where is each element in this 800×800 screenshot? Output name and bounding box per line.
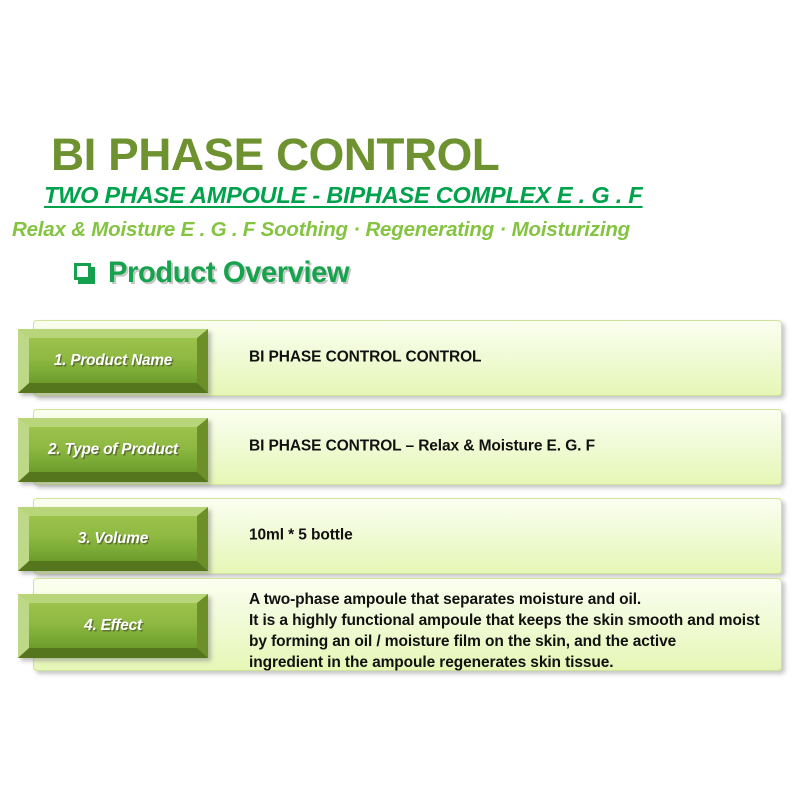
spec-row-label-chip: 1. Product Name	[18, 329, 208, 393]
spec-row: 10ml * 5 bottle 3. Volume	[18, 498, 782, 574]
spec-row: A two-phase ampoule that separates moist…	[18, 578, 782, 671]
page-title: BI PHASE CONTROL	[0, 132, 800, 177]
tagline: Relax & Moisture E . G . F Soothing · Re…	[0, 218, 800, 243]
subtitle: TWO PHASE AMPOULE - BIPHASE COMPLEX E . …	[0, 181, 800, 210]
header-block: BI PHASE CONTROL TWO PHASE AMPOULE - BIP…	[0, 132, 800, 243]
spec-row-label: 4. Effect	[32, 617, 193, 635]
spec-row-value-line: It is a highly functional ampoule that k…	[249, 611, 769, 632]
spec-row-value-line: by forming an oil / moisture film on the…	[249, 632, 769, 653]
spec-row-value: BI PHASE CONTROL – Relax & Moisture E. G…	[249, 437, 769, 458]
hollow-square-bullet-icon	[74, 263, 95, 284]
spec-row: BI PHASE CONTROL CONTROL 1. Product Name	[18, 320, 782, 396]
spec-row-value-line: A two-phase ampoule that separates moist…	[249, 590, 769, 611]
spec-row-value-line: ingredient in the ampoule regenerates sk…	[249, 653, 769, 674]
spec-row-label-chip: 2. Type of Product	[18, 418, 208, 482]
spec-row-label: 1. Product Name	[32, 352, 193, 370]
spec-row-label-chip: 4. Effect	[18, 594, 208, 658]
spec-row-value: BI PHASE CONTROL CONTROL	[249, 348, 769, 369]
section-title: Product Overview	[108, 258, 349, 288]
spec-row-label-chip: 3. Volume	[18, 507, 208, 571]
spec-row-value: A two-phase ampoule that separates moist…	[249, 590, 769, 674]
section-heading: Product Overview	[74, 258, 357, 288]
spec-row: BI PHASE CONTROL – Relax & Moisture E. G…	[18, 409, 782, 485]
spec-row-value: 10ml * 5 bottle	[249, 526, 769, 547]
spec-row-label: 3. Volume	[32, 530, 193, 548]
spec-row-label: 2. Type of Product	[32, 441, 193, 459]
